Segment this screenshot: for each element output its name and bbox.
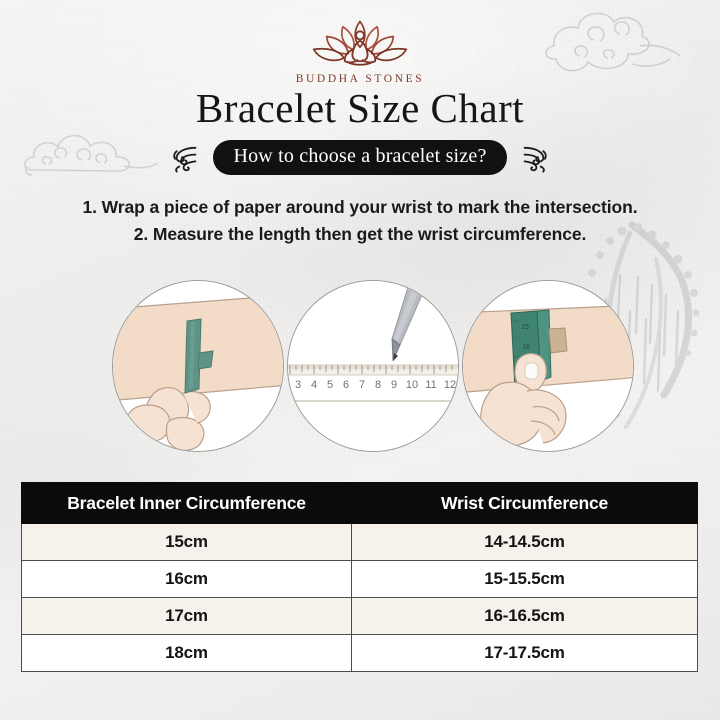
size-chart-page: BUDDHA STONES Bracelet Size Chart How to… bbox=[0, 0, 720, 720]
subtitle-row: How to choose a bracelet size? bbox=[0, 140, 720, 175]
svg-text:7: 7 bbox=[359, 379, 365, 391]
cell-wrist-size: 15-15.5cm bbox=[352, 561, 698, 598]
column-header-wrist-circumference: Wrist Circumference bbox=[352, 483, 698, 524]
svg-text:3: 3 bbox=[295, 379, 301, 391]
cell-bracelet-size: 15cm bbox=[22, 524, 352, 561]
cell-bracelet-size: 16cm bbox=[22, 561, 352, 598]
instructions-list: 1. Wrap a piece of paper around your wri… bbox=[0, 194, 720, 248]
cell-wrist-size: 16-16.5cm bbox=[352, 598, 698, 635]
svg-text:9: 9 bbox=[391, 379, 397, 391]
illustration-wrap-paper-around-wrist bbox=[112, 280, 284, 452]
svg-text:11: 11 bbox=[425, 379, 436, 391]
table-header-row: Bracelet Inner Circumference Wrist Circu… bbox=[22, 483, 698, 524]
brand-name: BUDDHA STONES bbox=[296, 73, 424, 85]
svg-text:6: 6 bbox=[343, 379, 349, 391]
svg-text:15: 15 bbox=[521, 324, 529, 331]
cell-wrist-size: 14-14.5cm bbox=[352, 524, 698, 561]
flourish-ornament-icon bbox=[170, 141, 204, 175]
illustration-measure-with-tape: 151617 bbox=[462, 280, 634, 452]
flourish-ornament-icon bbox=[516, 141, 550, 175]
table-row: 15cm 14-14.5cm bbox=[22, 524, 698, 561]
svg-text:12: 12 bbox=[444, 379, 456, 391]
svg-text:16: 16 bbox=[522, 344, 530, 351]
lotus-meditation-icon bbox=[304, 16, 416, 72]
svg-text:4: 4 bbox=[311, 379, 317, 391]
cell-bracelet-size: 17cm bbox=[22, 598, 352, 635]
instruction-step-2: 2. Measure the length then get the wrist… bbox=[0, 221, 720, 248]
illustration-measure-with-ruler: 345 678 91011 12 bbox=[287, 280, 459, 452]
svg-text:10: 10 bbox=[406, 379, 418, 391]
table-row: 17cm 16-16.5cm bbox=[22, 598, 698, 635]
table-row: 18cm 17-17.5cm bbox=[22, 635, 698, 672]
svg-text:5: 5 bbox=[327, 379, 333, 391]
svg-text:8: 8 bbox=[375, 379, 381, 391]
illustration-row: 345 678 91011 12 bbox=[0, 280, 720, 460]
instruction-step-1: 1. Wrap a piece of paper around your wri… bbox=[0, 194, 720, 221]
table-row: 16cm 15-15.5cm bbox=[22, 561, 698, 598]
cell-wrist-size: 17-17.5cm bbox=[352, 635, 698, 672]
cell-bracelet-size: 18cm bbox=[22, 635, 352, 672]
column-header-bracelet-inner-circumference: Bracelet Inner Circumference bbox=[22, 483, 352, 524]
subtitle-badge: How to choose a bracelet size? bbox=[213, 140, 506, 175]
brand-logo: BUDDHA STONES bbox=[0, 16, 720, 85]
page-title: Bracelet Size Chart bbox=[0, 88, 720, 129]
size-table: Bracelet Inner Circumference Wrist Circu… bbox=[21, 482, 698, 672]
